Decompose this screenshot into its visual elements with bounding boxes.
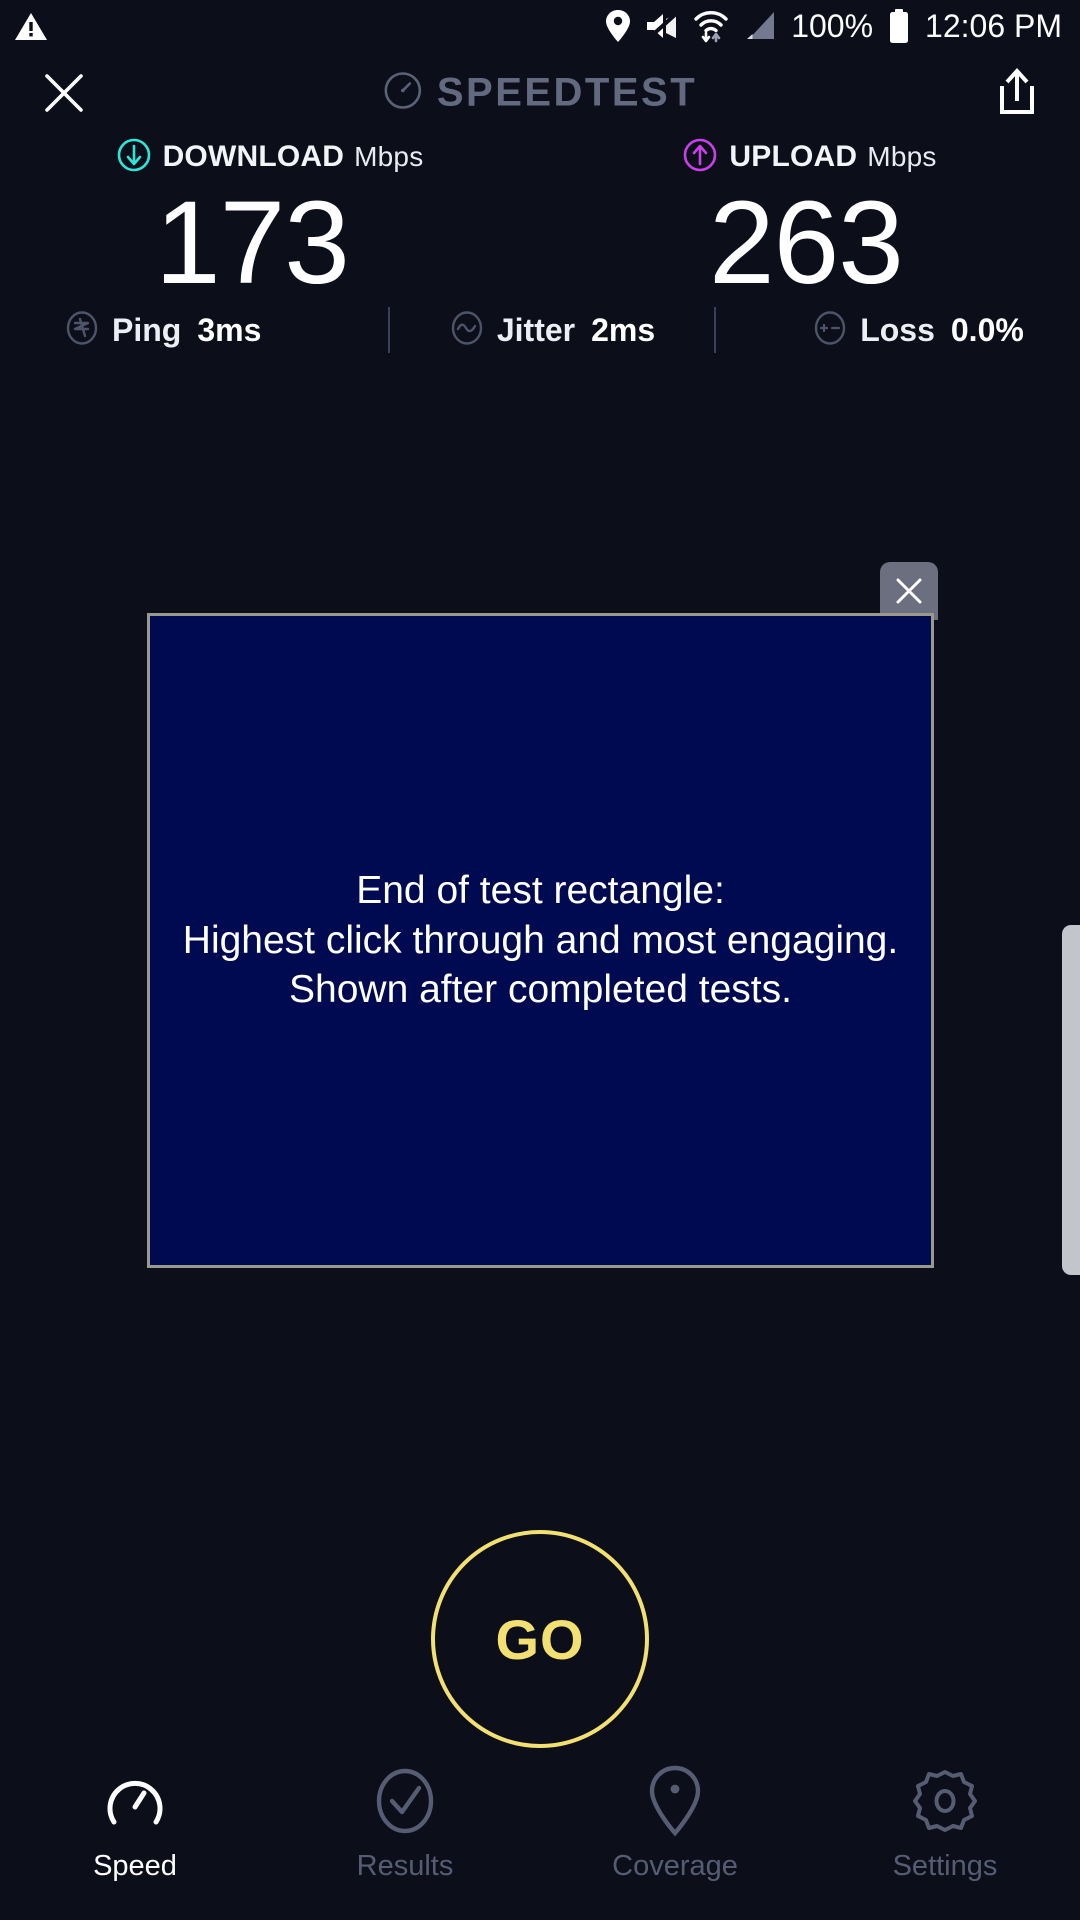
upload-arrow-icon — [683, 138, 717, 177]
bottom-navigation: Speed Results Coverage — [0, 1750, 1080, 1920]
ping-metric: Ping 3ms — [64, 310, 261, 351]
wifi-transfer-icon — [693, 9, 729, 43]
close-icon[interactable] — [38, 67, 90, 119]
volume-mute-icon — [645, 11, 679, 41]
download-arrow-icon — [117, 138, 151, 177]
nav-label-coverage: Coverage — [612, 1850, 738, 1883]
app-title: SPEEDTEST — [437, 71, 697, 116]
jitter-value: 2ms — [591, 312, 655, 349]
upload-unit: Mbps — [867, 141, 936, 173]
check-circle-icon — [374, 1766, 436, 1836]
status-bar-clock: 12:06 PM — [925, 8, 1062, 45]
nav-item-coverage[interactable]: Coverage — [540, 1766, 810, 1883]
status-bar: 100% 12:06 PM — [0, 0, 1080, 52]
warning-triangle-icon — [14, 11, 48, 41]
nav-label-speed: Speed — [93, 1850, 177, 1883]
download-upload-row: DOWNLOAD Mbps 173 UPLOAD Mbps — [0, 134, 1080, 302]
cellular-signal-icon — [743, 10, 777, 42]
loss-metric: Loss 0.0% — [812, 310, 1024, 351]
jitter-label: Jitter — [497, 312, 575, 349]
jitter-slot: Jitter 2ms — [390, 310, 714, 351]
loss-value: 0.0% — [951, 312, 1024, 349]
status-bar-left — [14, 11, 48, 41]
speedtest-app-screen: 100% 12:06 PM — [0, 0, 1080, 1920]
go-button-label: GO — [495, 1607, 584, 1672]
nav-item-settings[interactable]: Settings — [810, 1766, 1080, 1883]
speedometer-icon — [104, 1766, 166, 1836]
nav-label-settings: Settings — [893, 1850, 998, 1883]
download-value: 173 — [155, 184, 349, 302]
ad-close-icon[interactable] — [880, 562, 938, 620]
battery-full-icon — [887, 8, 911, 44]
download-title: DOWNLOAD — [163, 140, 345, 174]
nav-item-speed[interactable]: Speed — [0, 1766, 270, 1883]
download-unit: Mbps — [354, 141, 423, 173]
nav-item-results[interactable]: Results — [270, 1766, 540, 1883]
share-icon[interactable] — [990, 66, 1044, 120]
jitter-metric: Jitter 2ms — [449, 310, 655, 351]
ad-line-3: Shown after completed tests. — [183, 965, 898, 1015]
loss-label: Loss — [860, 312, 935, 349]
nav-label-results: Results — [357, 1850, 454, 1883]
ad-line-2: Highest click through and most engaging. — [183, 916, 898, 966]
download-label-row: DOWNLOAD Mbps — [117, 134, 424, 180]
location-pin-icon — [605, 9, 631, 43]
battery-percent-label: 100% — [791, 8, 873, 45]
gear-icon — [912, 1766, 978, 1836]
advertisement-banner[interactable]: End of test rectangle: Highest click thr… — [147, 613, 934, 1268]
app-header: SPEEDTEST — [0, 52, 1080, 134]
download-metric: DOWNLOAD Mbps 173 — [0, 134, 540, 302]
ping-value: 3ms — [197, 312, 261, 349]
speedometer-icon — [383, 71, 423, 116]
ping-label: Ping — [112, 312, 181, 349]
map-pin-icon — [647, 1766, 703, 1836]
loss-icon — [812, 310, 848, 351]
test-results: DOWNLOAD Mbps 173 UPLOAD Mbps — [0, 134, 1080, 302]
upload-metric: UPLOAD Mbps 263 — [540, 134, 1080, 302]
app-brand: SPEEDTEST — [383, 71, 697, 116]
go-button[interactable]: GO — [431, 1530, 649, 1748]
upload-value: 263 — [709, 184, 903, 302]
upload-title: UPLOAD — [729, 140, 857, 174]
scrollbar-thumb[interactable] — [1062, 925, 1080, 1275]
status-bar-right: 100% 12:06 PM — [605, 8, 1062, 45]
ping-jitter-loss-row: Ping 3ms Jitter 2ms — [0, 300, 1080, 360]
loss-slot: Loss 0.0% — [716, 310, 1080, 351]
jitter-icon — [449, 310, 485, 351]
ad-line-1: End of test rectangle: — [183, 866, 898, 916]
ping-slot: Ping 3ms — [0, 310, 388, 351]
ping-icon — [64, 310, 100, 351]
upload-label-row: UPLOAD Mbps — [683, 134, 936, 180]
ad-text: End of test rectangle: Highest click thr… — [183, 866, 898, 1016]
